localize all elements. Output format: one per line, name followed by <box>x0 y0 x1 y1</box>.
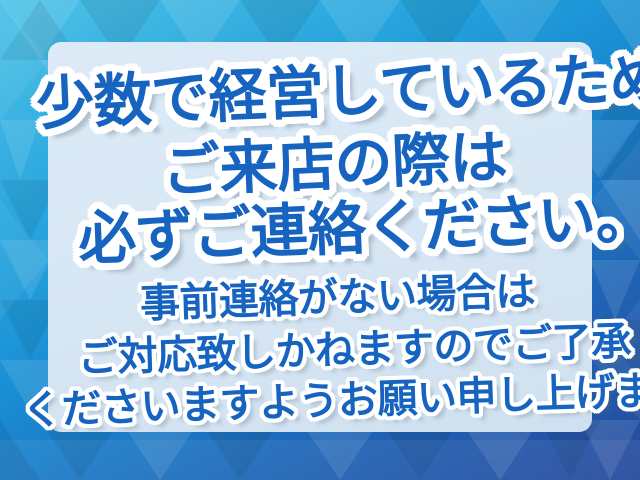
notice-banner: 少数で経営しているため ご来店の際は 必ずご連絡ください。 事前連絡がない場合は… <box>0 0 640 480</box>
notice-card <box>48 42 592 432</box>
